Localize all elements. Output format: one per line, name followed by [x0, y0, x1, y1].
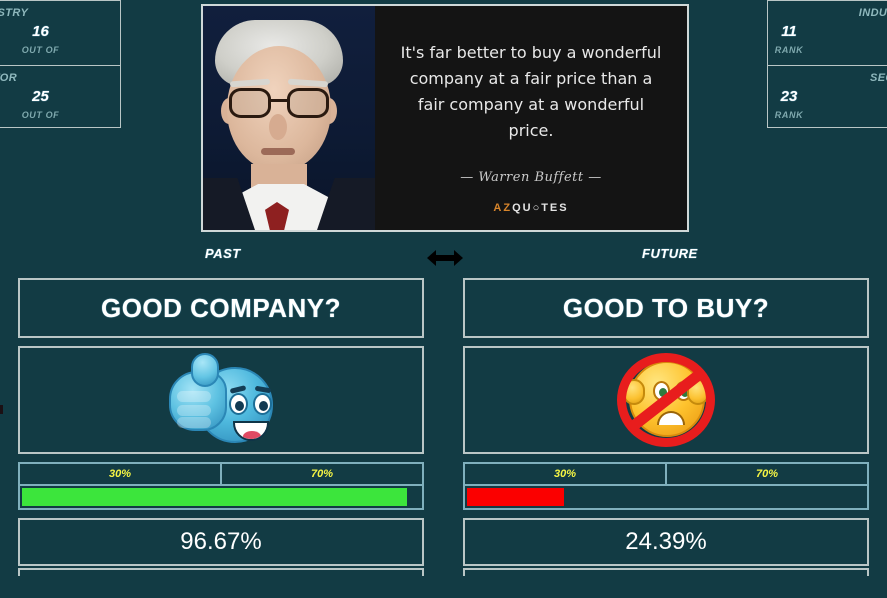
rank-value-sector: 25	[0, 88, 100, 105]
industry-sector-rank-panel-right: INDUSTRY 11 RANK SECTOR 23 RANK	[767, 0, 887, 128]
good-to-buy-title: GOOD TO BUY?	[465, 280, 867, 336]
good-company-progress-fill	[22, 488, 407, 506]
good-company-header-panel: GOOD COMPANY?	[18, 278, 424, 338]
warren-buffett-quote-card: It's far better to buy a wonderful compa…	[201, 4, 689, 232]
past-label: PAST	[205, 246, 241, 261]
rank-label-industry-right: INDUSTRY	[859, 7, 887, 19]
rank-sub-sector: OUT OF	[0, 110, 100, 120]
dashboard-stage: INDUSTRY 16 OUT OF SECTOR 25 OUT OF INDU…	[0, 0, 887, 598]
past-future-axis: PAST FUTURE	[0, 246, 887, 270]
past-column: GOOD COMPANY?	[18, 278, 424, 576]
rank-cell-sector-right: SECTOR 23 RANK	[768, 65, 887, 129]
good-company-score-panel: 96.67%	[18, 518, 424, 566]
good-company-verdict-panel	[18, 346, 424, 454]
progress-mark-70: 70%	[665, 464, 867, 484]
rank-cell-industry-right: INDUSTRY 11 RANK	[768, 1, 887, 65]
future-label: FUTURE	[642, 246, 698, 261]
quote-body: It's far better to buy a wonderful compa…	[375, 6, 687, 230]
rank-value-industry-right: 11	[730, 23, 848, 40]
good-to-buy-verdict-panel	[463, 346, 869, 454]
good-company-progress-track	[20, 486, 422, 508]
good-to-buy-header-panel: GOOD TO BUY?	[463, 278, 869, 338]
progress-mark-30: 30%	[20, 464, 220, 484]
rank-value-sector-right: 23	[730, 88, 848, 105]
rank-sub-industry-right: RANK	[730, 45, 848, 55]
rank-sub-industry: OUT OF	[0, 45, 100, 55]
good-to-buy-score-value: 24.39%	[625, 528, 706, 556]
good-to-buy-progress-fill	[467, 488, 564, 506]
quote-attribution: — Warren Buffett —	[460, 170, 602, 185]
azquotes-watermark: AZQU○TES	[375, 202, 687, 214]
good-to-buy-progress-track	[465, 486, 867, 508]
azquotes-brand-prefix: AZ	[493, 202, 512, 214]
good-to-buy-progress-panel: 30% 70%	[463, 462, 869, 510]
no-entry-worried-smiley-icon	[465, 348, 867, 452]
double-arrow-horizontal-icon	[427, 248, 463, 268]
rank-cell-industry-left: INDUSTRY 16 OUT OF	[0, 1, 120, 65]
good-company-next-panel-clipped	[18, 568, 424, 576]
progress-mark-70: 70%	[220, 464, 422, 484]
rank-label-sector-right: SECTOR	[870, 72, 887, 84]
clipped-edge-marker	[0, 405, 3, 414]
good-company-score-value: 96.67%	[180, 528, 261, 556]
good-company-title: GOOD COMPANY?	[20, 280, 422, 336]
good-to-buy-score-panel: 24.39%	[463, 518, 869, 566]
blue-thumbs-up-smiley-icon	[20, 348, 422, 452]
rank-label-industry: INDUSTRY	[0, 7, 28, 19]
good-to-buy-next-panel-clipped	[463, 568, 869, 576]
azquotes-brand-suffix: QU○TES	[512, 202, 569, 214]
industry-sector-rank-panel-left: INDUSTRY 16 OUT OF SECTOR 25 OUT OF	[0, 0, 121, 128]
rank-cell-sector-left: SECTOR 25 OUT OF	[0, 65, 120, 129]
rank-sub-sector-right: RANK	[730, 110, 848, 120]
good-to-buy-progress-marks: 30% 70%	[465, 464, 867, 486]
quote-text: It's far better to buy a wonderful compa…	[397, 40, 665, 144]
warren-buffett-portrait-image	[203, 6, 375, 230]
rank-value-industry: 16	[0, 23, 100, 40]
progress-mark-30: 30%	[465, 464, 665, 484]
future-column: GOOD TO BUY? 30% 7	[463, 278, 869, 576]
rank-label-sector: SECTOR	[0, 72, 17, 84]
good-company-progress-panel: 30% 70%	[18, 462, 424, 510]
good-company-progress-marks: 30% 70%	[20, 464, 422, 486]
